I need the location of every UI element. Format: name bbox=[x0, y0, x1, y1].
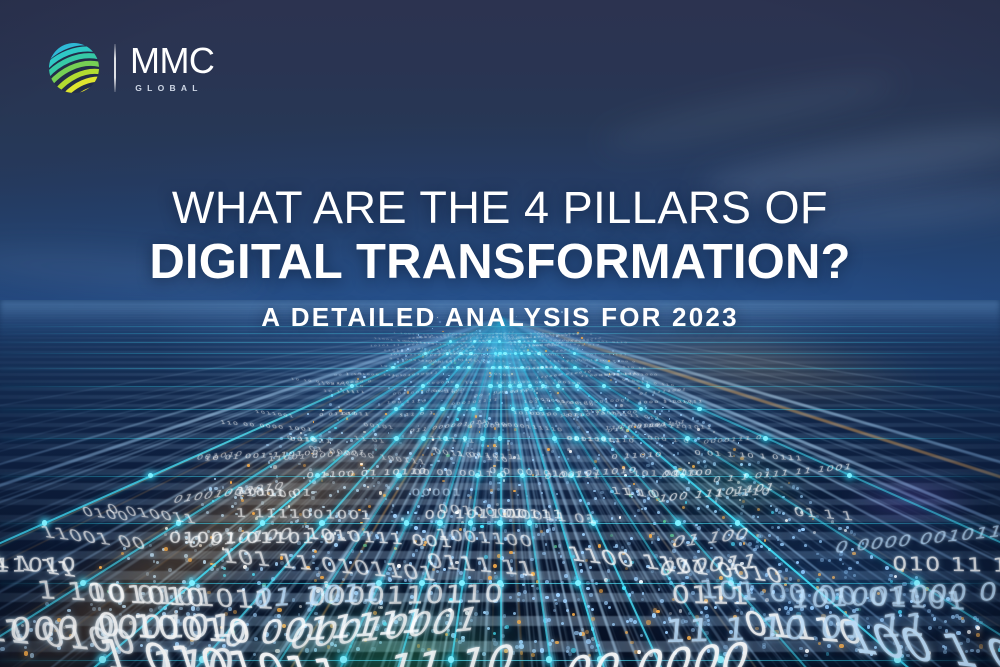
headline-subtitle: A DETAILED ANALYSIS FOR 2023 bbox=[0, 303, 1000, 332]
binary-digits: 10 010 bbox=[496, 381, 523, 384]
binary-digits: 10101 111 bbox=[380, 365, 419, 371]
binary-digits: 1 1110 bbox=[714, 486, 772, 500]
binary-digits: 1 1111001001 bbox=[235, 506, 372, 522]
cloud-wisp bbox=[600, 65, 901, 161]
binary-digits: 100 1110 bbox=[386, 400, 427, 405]
binary-digits: 00100 bbox=[489, 373, 512, 378]
binary-digits: 10 01010011 bbox=[391, 372, 439, 379]
binary-digits: 111 0 1 bbox=[399, 410, 436, 417]
binary-digits: 11 01 bbox=[353, 435, 387, 445]
binary-digits: 0 11010 bbox=[611, 451, 664, 460]
headline-line-1: WHAT ARE THE 4 PILLARS OF bbox=[0, 184, 1000, 231]
binary-digits: 00110 01 0100 0 bbox=[577, 359, 637, 364]
binary-digits: 0 1100 01 10110 bbox=[306, 466, 428, 480]
binary-digits: 1010011 1 bbox=[494, 390, 538, 395]
binary-digits: 0 01 1 10 1 0111 bbox=[694, 449, 804, 462]
blog-banner: 01110111101 10010 101111100010 10 011001… bbox=[0, 0, 1000, 667]
binary-digits: 110 00 0000 1001 bbox=[220, 420, 314, 433]
binary-digits: 00 0000 bbox=[557, 633, 758, 667]
binary-digits: 11001 00 bbox=[38, 523, 151, 554]
binary-digits: 0 1 1 0111 11 1001 bbox=[712, 462, 855, 485]
logo-divider bbox=[114, 44, 116, 92]
binary-digits: 10 1111 bbox=[323, 390, 357, 395]
binary-digits: 001 0 1 101 bbox=[586, 354, 628, 356]
binary-digits: 10101 11 1000 bbox=[370, 344, 420, 347]
binary-digits: 100 bbox=[465, 381, 480, 385]
binary-digits: 1011001 bbox=[254, 409, 296, 419]
binary-digits: 000000 bbox=[427, 381, 456, 386]
binary-digits: 001100 110 bbox=[433, 448, 511, 464]
binary-digits: 101 1 bbox=[524, 400, 549, 404]
binary-digits: 00100010011 01 bbox=[436, 502, 599, 527]
headline-line-2: DIGITAL TRANSFORMATION? bbox=[0, 237, 1000, 288]
binary-digits: 000101111 bbox=[451, 398, 500, 406]
mmc-globe-logo-icon bbox=[48, 42, 100, 94]
binary-digits: 01 1111001 bbox=[638, 388, 687, 396]
binary-digits: 01 1 1 bbox=[792, 505, 856, 524]
binary-digits: 0010 bbox=[290, 437, 319, 444]
binary-digits: 01001 01101 0 bbox=[169, 529, 338, 547]
binary-digits: 1111 11 bbox=[429, 436, 476, 445]
binary-digits: 0101 bbox=[384, 349, 400, 351]
binary-digits: 001 0 bbox=[433, 390, 457, 395]
binary-digits: 010 11 111 00 bbox=[892, 553, 1000, 578]
binary-digits: 00001 bbox=[412, 487, 463, 498]
binary-digits: 000 1 0 bbox=[647, 435, 692, 445]
aerial-city-background: 01110111101 10010 101111100010 10 011001… bbox=[0, 300, 1000, 667]
binary-digits: 01 010 bbox=[449, 359, 473, 363]
headline-block: WHAT ARE THE 4 PILLARS OF DIGITAL TRANSF… bbox=[0, 184, 1000, 331]
binary-digits: 0 010011 bbox=[104, 501, 200, 527]
binary-digits: 0 0000 00101100 bbox=[832, 519, 1000, 557]
binary-digits: 0000111 bbox=[551, 347, 581, 353]
binary-digits: 0111 11 bbox=[424, 549, 538, 581]
binary-digits: 100 100 bbox=[540, 366, 569, 370]
binary-digits: 00 001 11 bbox=[522, 381, 562, 385]
binary-digits: 00101 bbox=[362, 422, 395, 431]
binary-digits: 110 0 1 100 11 bbox=[604, 421, 683, 431]
binary-digits: 10 00 1111101 bbox=[518, 359, 570, 363]
brand-name: MMC bbox=[130, 43, 214, 79]
binary-digits: 1011 100 bbox=[438, 366, 472, 369]
binary-code-overlay: 01110111101 10010 101111100010 10 011001… bbox=[0, 300, 1000, 667]
binary-digits: 11 11 110 bbox=[600, 373, 638, 377]
binary-digits: 01 100 bbox=[669, 525, 754, 552]
binary-digits: 010011 0 110 bbox=[622, 379, 677, 388]
brand-logo[interactable]: MMC GLOBAL bbox=[48, 42, 214, 94]
binary-digits: 010 10 bbox=[622, 366, 647, 370]
binary-digits: 0000111 0 bbox=[702, 435, 763, 446]
brand-tagline: GLOBAL bbox=[130, 84, 214, 93]
logo-wordmark: MMC GLOBAL bbox=[130, 43, 214, 93]
binary-digits: 1 100 bbox=[672, 467, 714, 478]
